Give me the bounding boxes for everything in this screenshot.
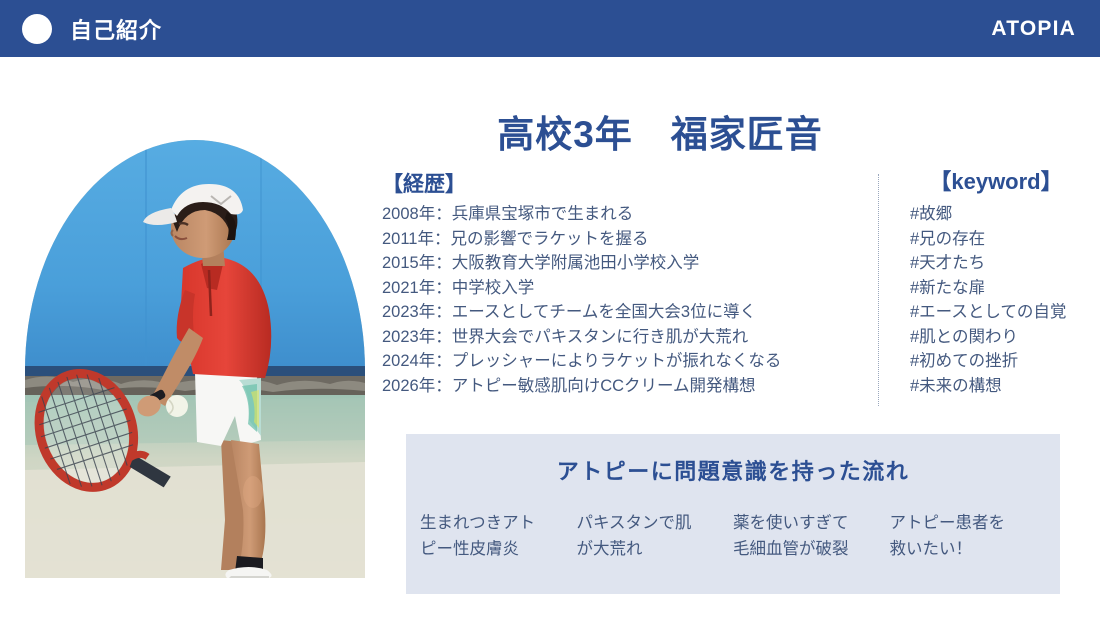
flow-item: アトピー患者を 救いたい！ [890, 510, 1047, 562]
page-title: 高校3年 福家匠音 [380, 104, 940, 158]
list-item: #初めての挫折 [910, 349, 1100, 374]
list-item: #兄の存在 [910, 227, 1100, 252]
list-item: #新たな扉 [910, 276, 1100, 301]
flow-item: パキスタンで肌 が大荒れ [577, 510, 734, 562]
list-item: 2023年：世界大会でパキスタンに行き肌が大荒れ [382, 325, 852, 350]
profile-photo-illustration [25, 140, 365, 578]
list-item: #肌との関わり [910, 325, 1100, 350]
list-item: 2015年：大阪教育大学附属池田小学校入学 [382, 251, 852, 276]
list-item: #未来の構想 [910, 374, 1100, 399]
list-item: 2011年：兄の影響でラケットを握る [382, 227, 852, 252]
flow-item: 生まれつきアト ピー性皮膚炎 [420, 510, 577, 562]
list-item: #天才たち [910, 251, 1100, 276]
keyword-list: #故郷 #兄の存在 #天才たち #新たな扉 #エースとしての自覚 #肌との関わり… [910, 202, 1100, 398]
keyword-heading: 【keyword】 [896, 164, 1096, 196]
slide-header: 自己紹介 ATOPIA [0, 0, 1100, 57]
flow-items: 生まれつきアト ピー性皮膚炎 パキスタンで肌 が大荒れ 薬を使いすぎて 毛細血管… [406, 510, 1060, 562]
list-item: #故郷 [910, 202, 1100, 227]
list-item: 2021年：中学校入学 [382, 276, 852, 301]
column-divider [878, 174, 879, 406]
list-item: 2008年：兵庫県宝塚市で生まれる [382, 202, 852, 227]
flow-item: 薬を使いすぎて 毛細血管が破裂 [733, 510, 890, 562]
history-heading: 【経歴】 [382, 168, 466, 198]
list-item: 2026年：アトピー敏感肌向けCCクリーム開発構想 [382, 374, 852, 399]
brand-logo-text: ATOPIA [991, 17, 1076, 41]
flow-panel-title: アトピーに問題意識を持った流れ [406, 454, 1060, 486]
history-list: 2008年：兵庫県宝塚市で生まれる 2011年：兄の影響でラケットを握る 201… [382, 202, 852, 398]
list-item: #エースとしての自覚 [910, 300, 1100, 325]
profile-photo-tennis-player [25, 140, 365, 578]
page-section-title: 自己紹介 [70, 13, 162, 45]
circle-bullet-icon [22, 14, 52, 44]
list-item: 2024年：プレッシャーによりラケットが振れなくなる [382, 349, 852, 374]
flow-panel: アトピーに問題意識を持った流れ 生まれつきアト ピー性皮膚炎 パキスタンで肌 が… [406, 434, 1060, 594]
list-item: 2023年：エースとしてチームを全国大会3位に導く [382, 300, 852, 325]
